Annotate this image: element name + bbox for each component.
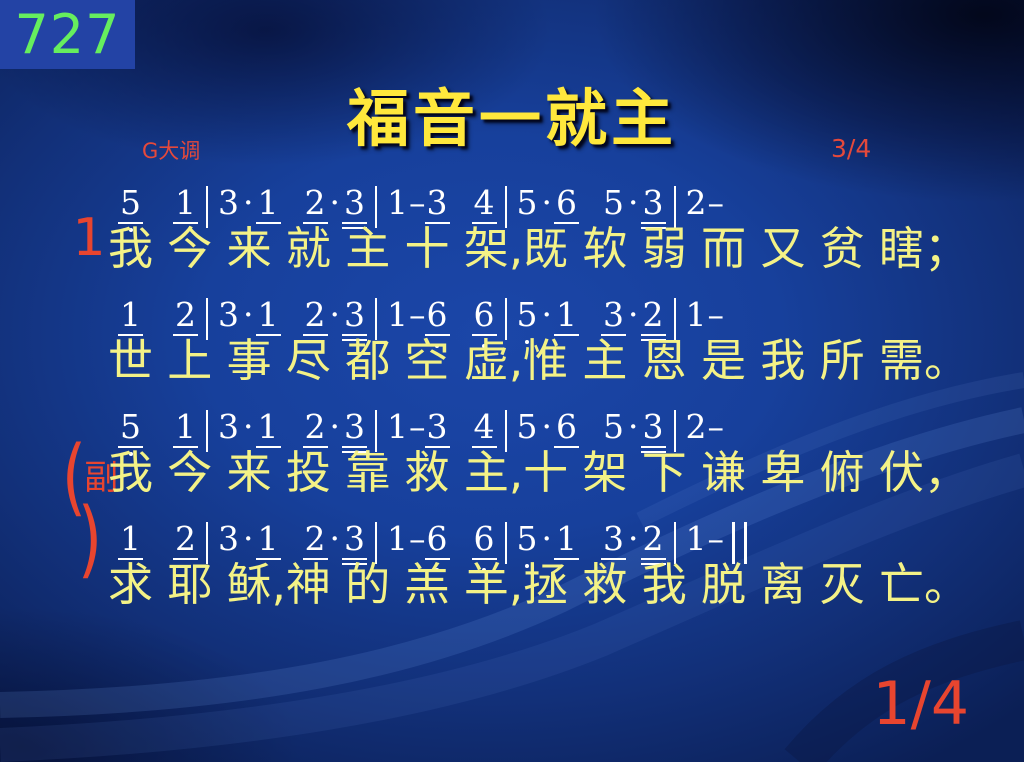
music-system: (副) 5 1 3·1 2·3 1–3 4 5·6 5·3 2– 我 今 来 投… bbox=[0, 410, 1024, 522]
lyric-line: 世 上 事 尽 都 空 虚,惟 主 恩 是 我 所 需。 bbox=[108, 338, 969, 383]
hymn-number: 727 bbox=[14, 8, 120, 62]
music-system: 1 2 3·1 2·3 1–6 6 5·1 3·2 1– 世 上 事 尽 都 空… bbox=[0, 298, 1024, 410]
lyric-line: 我 今 来 投 靠 救 主,十 架 下 谦 卑 俯 伏， bbox=[108, 450, 969, 495]
music-system: 1 2 3·1 2·3 1–6 6 5·1 3·2 1– 求 耶 稣,神 的 羔… bbox=[0, 522, 1024, 634]
music-staff-area: 1 5 1 3·1 2·3 1–3 4 5·6 5·3 2– 我 今 来 就 主… bbox=[0, 186, 1024, 634]
time-signature-label: 3/4 bbox=[831, 136, 871, 161]
hymn-slide: 727 福音一就主 G大调 3/4 1 5 1 3·1 2·3 1–3 4 5·… bbox=[0, 0, 1024, 762]
page-indicator: 1/4 bbox=[872, 674, 969, 734]
music-system: 1 5 1 3·1 2·3 1–3 4 5·6 5·3 2– 我 今 来 就 主… bbox=[0, 186, 1024, 298]
lyric-line: 求 耶 稣,神 的 羔 羊,拯 救 我 脱 离 灭 亡。 bbox=[108, 562, 969, 607]
lyric-line: 我 今 来 就 主 十 架,既 软 弱 而 又 贫 瞎； bbox=[108, 226, 969, 271]
hymn-number-badge: 727 bbox=[0, 0, 135, 69]
key-signature-label: G大调 bbox=[142, 141, 200, 162]
